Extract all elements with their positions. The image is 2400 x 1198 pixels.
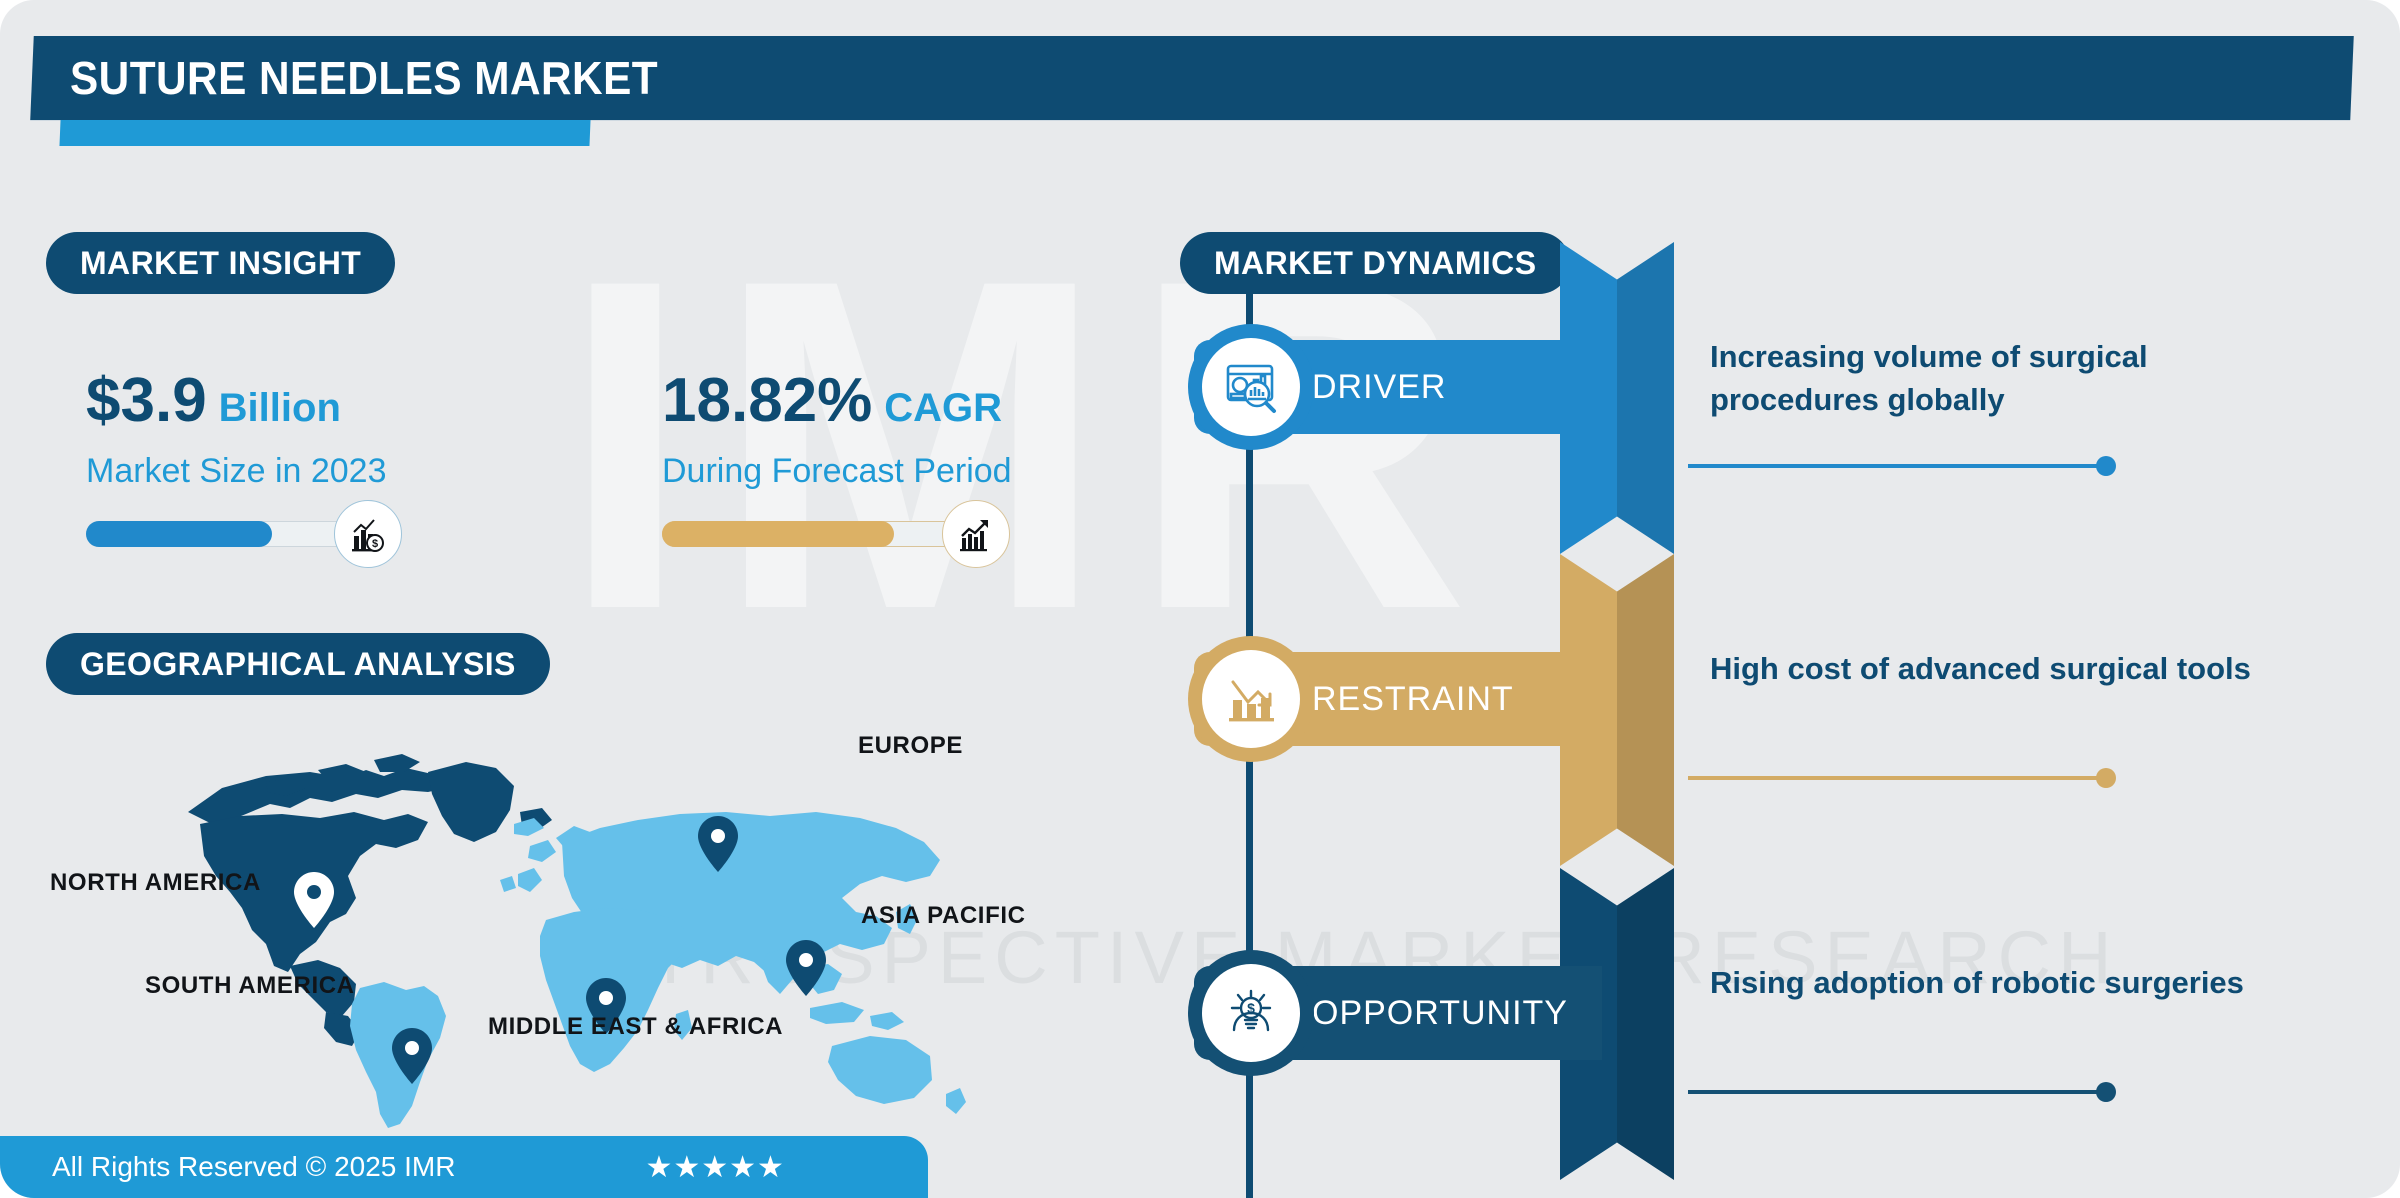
header-banner: SUTURE NEEDLES MARKET [30, 36, 2354, 120]
report-magnifier-icon [1188, 324, 1314, 450]
bar-chart-dollar-icon: $ [334, 500, 402, 568]
kpi-market-size: $3.9Billion Market Size in 2023 $ [86, 370, 387, 551]
kpi-market-size-caption: Market Size in 2023 [86, 452, 387, 491]
market-dynamics-timeline: DRIVER [1180, 290, 2360, 1198]
infographic-canvas: IMR INTROSPECTIVE MARKET RESEARCH SUTURE… [0, 0, 2400, 1198]
dynamics-row-opportunity: OPPORTUNITY [1180, 868, 2360, 1118]
section-heading-market-insight: MARKET INSIGHT [46, 232, 395, 294]
progress-fill [662, 521, 894, 547]
header-blue-accent [59, 120, 590, 146]
svg-text:$: $ [372, 538, 378, 550]
footer-bar: All Rights Reserved © 2025 IMR ★★★★★ [0, 1136, 928, 1198]
dynamics-text-opportunity: Rising adoption of robotic surgeries [1710, 962, 2310, 1005]
map-label-europe: EUROPE [858, 732, 963, 760]
map-region-eurasia-africa [500, 812, 966, 1114]
kpi-cagr: 18.82%CAGR During Forecast Period [662, 370, 1012, 551]
world-map [170, 716, 980, 1136]
map-label-asia-pacific: ASIA PACIFIC [861, 902, 1026, 930]
map-label-south-america: SOUTH AMERICA [145, 972, 355, 1000]
dynamics-row-driver: DRIVER [1180, 242, 2360, 492]
page-title: SUTURE NEEDLES MARKET [70, 51, 658, 105]
dynamics-label-restraint: RESTRAINT [1312, 680, 1514, 719]
dynamics-underline [1688, 1090, 2108, 1094]
kpi-cagr-value: 18.82% [662, 366, 872, 435]
copyright-text: All Rights Reserved © 2025 IMR [52, 1151, 455, 1183]
dynamics-underline [1688, 464, 2108, 468]
lightbulb-dollar-icon: $ [1188, 950, 1314, 1076]
kpi-market-size-value: $3.9 [86, 366, 207, 435]
dynamics-label-driver: DRIVER [1312, 368, 1446, 407]
dynamics-text-driver-value: Increasing volume of surgical procedures… [1710, 336, 2310, 422]
dynamics-text-opportunity-value: Rising adoption of robotic surgeries [1710, 962, 2310, 1005]
dynamics-row-restraint: RESTRAINT [1180, 554, 2360, 804]
progress-fill [86, 521, 272, 547]
dynamics-underline [1688, 776, 2108, 780]
declining-bar-chart-icon [1188, 636, 1314, 762]
growth-chart-arrow-icon [942, 500, 1010, 568]
map-label-middle-east-africa: MIDDLE EAST & AFRICA [488, 1013, 783, 1041]
kpi-cagr-caption: During Forecast Period [662, 452, 1012, 491]
kpi-market-size-unit: Billion [219, 386, 341, 430]
dynamics-text-driver: Increasing volume of surgical procedures… [1710, 336, 2310, 422]
kpi-market-size-value-group: $3.9Billion [86, 370, 387, 432]
section-heading-geographical-analysis: GEOGRAPHICAL ANALYSIS [46, 633, 550, 695]
dynamics-text-restraint: High cost of advanced surgical tools [1710, 648, 2310, 691]
rating-stars: ★★★★★ [645, 1150, 784, 1185]
dynamics-text-restraint-value: High cost of advanced surgical tools [1710, 648, 2310, 691]
kpi-cagr-unit: CAGR [884, 386, 1002, 430]
svg-text:$: $ [1247, 1000, 1255, 1016]
kpi-market-size-progress: $ [86, 517, 386, 551]
kpi-cagr-progress [662, 517, 962, 551]
map-label-north-america: NORTH AMERICA [50, 869, 261, 897]
kpi-cagr-value-group: 18.82%CAGR [662, 370, 1012, 432]
dynamics-label-opportunity: OPPORTUNITY [1312, 994, 1568, 1033]
